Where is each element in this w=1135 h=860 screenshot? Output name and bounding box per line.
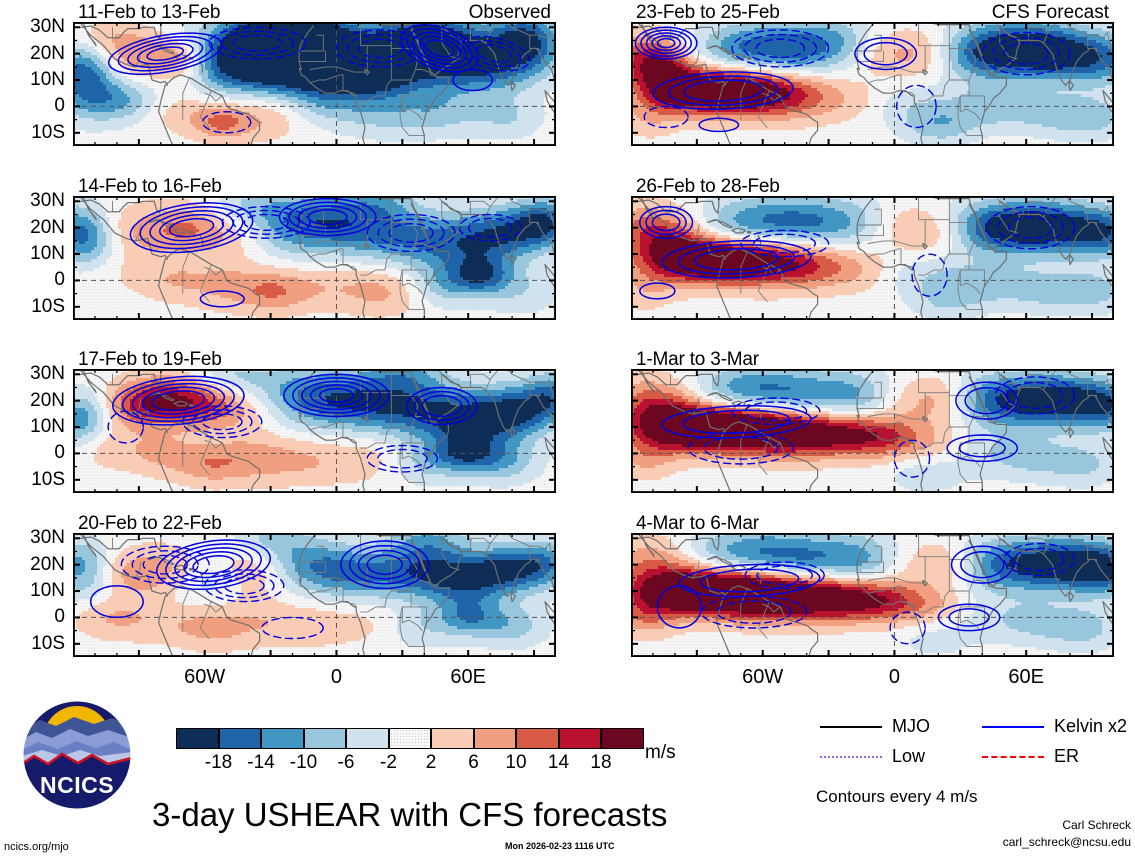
map-panel-2 <box>73 369 556 493</box>
contour-note: Contours every 4 m/s <box>816 787 978 807</box>
map-panel-7 <box>631 533 1114 657</box>
y-tick-label: 10S <box>3 296 65 318</box>
colorbar-swatch <box>389 728 432 749</box>
map-canvas <box>631 196 1114 320</box>
panel-title-1: 14-Feb to 16-Feb <box>78 176 222 198</box>
y-tick-label: 10S <box>3 633 65 655</box>
y-tick-label: 20N <box>3 43 65 65</box>
colorbar-swatch <box>219 728 262 749</box>
panel-title-4: 23-Feb to 25-Feb <box>636 2 780 24</box>
panel-title-2: 17-Feb to 19-Feb <box>78 349 222 371</box>
map-panel-5 <box>631 196 1114 320</box>
legend-line-kelvin-x2 <box>982 726 1044 728</box>
colorbar-swatch <box>346 728 389 749</box>
map-panel-4 <box>631 22 1114 146</box>
map-panel-3 <box>73 533 556 657</box>
legend-line-er <box>982 756 1044 758</box>
y-tick-label: 10N <box>3 580 65 602</box>
map-panel-0 <box>73 22 556 146</box>
map-canvas <box>631 22 1114 146</box>
column-header-0: Observed <box>469 2 551 24</box>
y-tick-label: 20N <box>3 554 65 576</box>
timestamp: Mon 2026-02-23 1116 UTC <box>505 841 615 851</box>
ncics-logo[interactable]: NCICS <box>22 700 132 810</box>
panel-title-0: 11-Feb to 13-Feb <box>78 2 220 24</box>
panel-title-6: 1-Mar to 3-Mar <box>636 349 759 371</box>
colorbar-swatch <box>304 728 347 749</box>
y-tick-label: 10N <box>3 243 65 265</box>
site-link[interactable]: ncics.org/mjo <box>4 841 69 853</box>
x-tick-label: 0 <box>854 666 934 689</box>
author-name: Carl Schreck <box>903 818 1131 832</box>
y-tick-label: 0 <box>3 269 65 291</box>
map-canvas <box>631 533 1114 657</box>
map-canvas <box>631 369 1114 493</box>
y-tick-label: 20N <box>3 390 65 412</box>
colorbar-tick-label: 18 <box>571 752 631 774</box>
ncics-logo-graphic: NCICS <box>22 700 132 810</box>
map-canvas <box>73 369 556 493</box>
y-tick-label: 30N <box>3 527 65 549</box>
map-panel-6 <box>631 369 1114 493</box>
map-canvas <box>73 196 556 320</box>
x-tick-label: 60E <box>986 666 1066 689</box>
figure-title: 3-day USHEAR with CFS forecasts <box>152 796 667 834</box>
legend-line-mjo <box>820 726 882 728</box>
author-email[interactable]: carl_schreck@ncsu.edu <box>903 835 1131 849</box>
x-tick-label: 60W <box>165 666 245 689</box>
y-tick-label: 10S <box>3 122 65 144</box>
y-tick-label: 20N <box>3 217 65 239</box>
map-canvas <box>73 22 556 146</box>
colorbar-swatch <box>516 728 559 749</box>
y-tick-label: 10S <box>3 469 65 491</box>
y-tick-label: 10N <box>3 416 65 438</box>
legend-label-kelvin-x2: Kelvin x2 <box>1054 716 1127 737</box>
y-tick-label: 30N <box>3 363 65 385</box>
legend-label-low: Low <box>892 746 925 767</box>
colorbar-swatch <box>474 728 517 749</box>
column-header-1: CFS Forecast <box>992 2 1109 24</box>
colorbar-swatch <box>176 728 219 749</box>
y-tick-label: 0 <box>3 442 65 464</box>
colorbar-swatch <box>601 728 644 749</box>
legend-line-low <box>820 756 882 758</box>
panel-title-5: 26-Feb to 28-Feb <box>636 176 780 198</box>
colorbar-swatch <box>559 728 602 749</box>
colorbar-swatch <box>261 728 304 749</box>
panel-title-3: 20-Feb to 22-Feb <box>78 513 222 535</box>
x-tick-label: 0 <box>296 666 376 689</box>
colorbar <box>176 728 644 754</box>
x-tick-label: 60W <box>723 666 803 689</box>
legend-label-er: ER <box>1054 746 1079 767</box>
y-tick-label: 0 <box>3 606 65 628</box>
colorbar-units-label: m/s <box>645 742 676 764</box>
y-tick-label: 30N <box>3 190 65 212</box>
y-tick-label: 0 <box>3 95 65 117</box>
map-canvas <box>73 533 556 657</box>
legend-label-mjo: MJO <box>892 716 930 737</box>
x-tick-label: 60E <box>428 666 508 689</box>
colorbar-swatch <box>431 728 474 749</box>
y-tick-label: 30N <box>3 16 65 38</box>
y-tick-label: 10N <box>3 69 65 91</box>
map-panel-1 <box>73 196 556 320</box>
panel-title-7: 4-Mar to 6-Mar <box>636 513 759 535</box>
